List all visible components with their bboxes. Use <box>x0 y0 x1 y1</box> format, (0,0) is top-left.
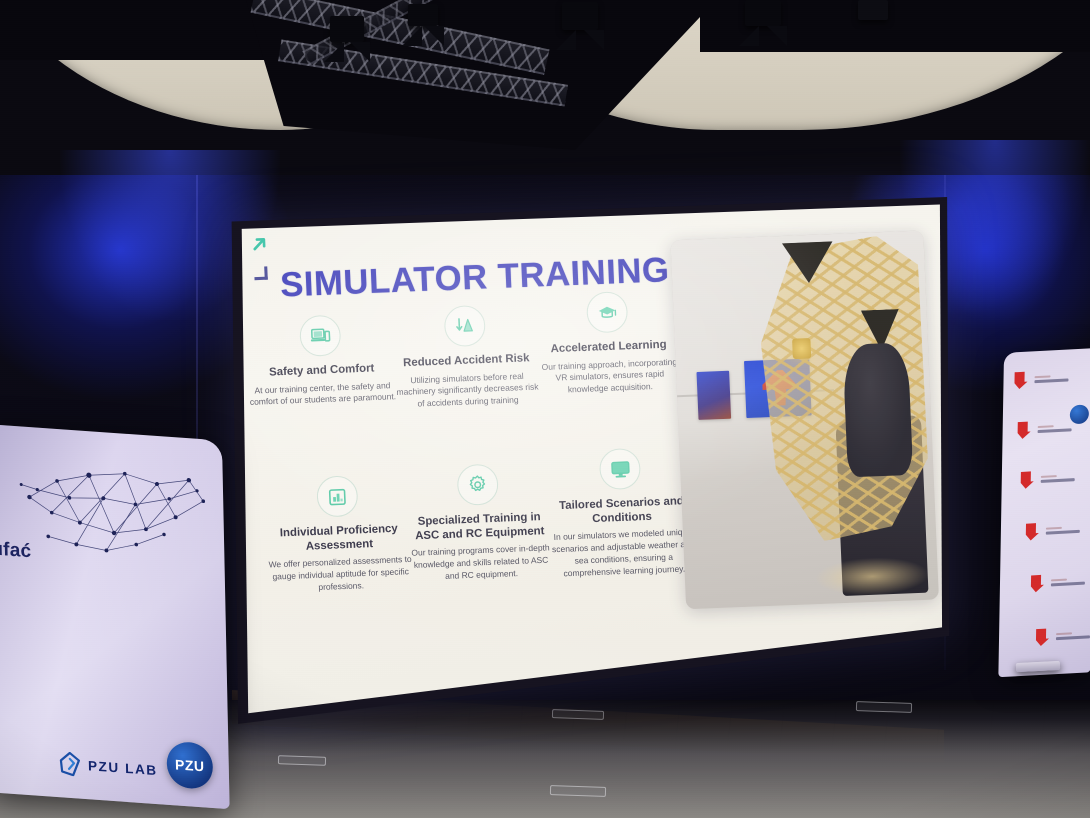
feature-body: At our training center, the safety and c… <box>248 379 398 409</box>
arc-decoration <box>809 657 950 726</box>
bar-chart-assessment-icon <box>316 475 359 517</box>
sponsor-logo-row <box>1028 571 1085 594</box>
feature-card-specialized-training: Specialized Training in ASC and RC Equip… <box>402 461 556 584</box>
laptop-device-icon <box>299 315 342 357</box>
sponsor-mark-icon <box>1033 626 1051 647</box>
sponsor-mark-icon <box>1028 573 1046 594</box>
feature-card-tailored-scenarios: Tailored Scenarios and Conditions In our… <box>545 446 699 581</box>
pzu-lab-mark-icon <box>59 751 81 777</box>
projection-screen: SIMULATOR TRAINING Safety and Com <box>228 196 950 726</box>
feature-heading: Individual Proficiency Assessment <box>264 522 414 556</box>
stage-light-3 <box>562 2 598 30</box>
photo-artwork-small <box>696 371 731 420</box>
banner-headline: , aufać <box>0 516 101 571</box>
accident-decrease-icon <box>444 305 487 347</box>
sponsor-logo-row <box>1011 367 1068 390</box>
photo-floor-glow <box>816 555 929 596</box>
floor-plate-1 <box>278 755 326 766</box>
stage-scene: SIMULATOR TRAINING Safety and Com <box>0 0 1090 818</box>
feature-body: We offer personalized assessments to gau… <box>266 554 416 596</box>
gear-settings-icon <box>456 464 499 506</box>
sponsor-mark-icon <box>1018 469 1036 490</box>
sponsor-wall-banner <box>998 348 1090 677</box>
sponsor-logo-row <box>1018 467 1075 490</box>
feature-card-individual-proficiency-assessment: Individual Proficiency Assessment We off… <box>262 473 416 596</box>
stage-light-4 <box>745 0 781 26</box>
sponsor-logo-row <box>1023 519 1080 542</box>
feature-body: Our training programs cover in-depth kno… <box>406 542 556 584</box>
feature-heading: Accelerated Learning <box>534 338 683 358</box>
feature-body: Utilizing simulators before real machine… <box>392 370 542 412</box>
feature-heading: Tailored Scenarios and Conditions <box>547 495 697 529</box>
stage-light-1 <box>330 16 364 42</box>
feature-heading: Specialized Training in ASC and RC Equip… <box>405 510 555 544</box>
arrow-up-right-icon <box>251 236 268 253</box>
sponsor-mark-icon <box>1023 521 1041 542</box>
sponsor-mark-icon <box>1011 369 1029 390</box>
sponsor-text-lines <box>1041 474 1075 483</box>
feature-body: Our training approach, incorporating VR … <box>535 356 685 398</box>
graduation-cap-icon <box>586 291 629 333</box>
sponsor-text-lines <box>1046 525 1080 534</box>
pzu-brand-label: PZU <box>175 756 205 774</box>
floor-plate-2 <box>550 785 606 797</box>
sponsor-pzu-mark-icon <box>1070 404 1089 424</box>
bracket-bottom-right-icon <box>254 266 268 280</box>
vr-crane-simulator-photo <box>670 230 939 609</box>
sponsor-text-lines <box>1056 631 1090 640</box>
sponsor-text-lines <box>1038 424 1072 433</box>
feature-card-safety-and-comfort: Safety and Comfort At our training cente… <box>245 312 398 409</box>
monitor-screen-icon <box>599 448 642 490</box>
feature-heading: Reduced Accident Risk <box>392 352 541 372</box>
sponsor-logo-row <box>1014 417 1071 440</box>
sponsor-logo-row <box>1033 624 1090 647</box>
sponsor-mark-icon <box>1014 419 1032 440</box>
feature-card-reduced-accident-risk: Reduced Accident Risk Utilizing simulato… <box>390 303 543 412</box>
photo-lamp <box>792 338 811 359</box>
feature-card-accelerated-learning: Accelerated Learning Our training approa… <box>532 289 685 398</box>
feature-body: In our simulators we modeled unique scen… <box>548 526 699 580</box>
stage-light-2 <box>408 4 438 26</box>
photo-seated-person <box>842 342 913 477</box>
sponsor-text-lines <box>1034 374 1068 383</box>
pzu-lab-label: PZU LAB <box>88 758 158 778</box>
stage-light-5 <box>858 0 888 20</box>
feature-heading: Safety and Comfort <box>247 361 396 381</box>
pzu-lab-rollup-banner: , aufać PZU LAB PZU <box>0 424 230 809</box>
sponsor-text-lines <box>1051 577 1085 586</box>
feature-grid: Safety and Comfort At our training cente… <box>245 301 701 695</box>
banner-headline-text: aufać <box>0 538 31 563</box>
